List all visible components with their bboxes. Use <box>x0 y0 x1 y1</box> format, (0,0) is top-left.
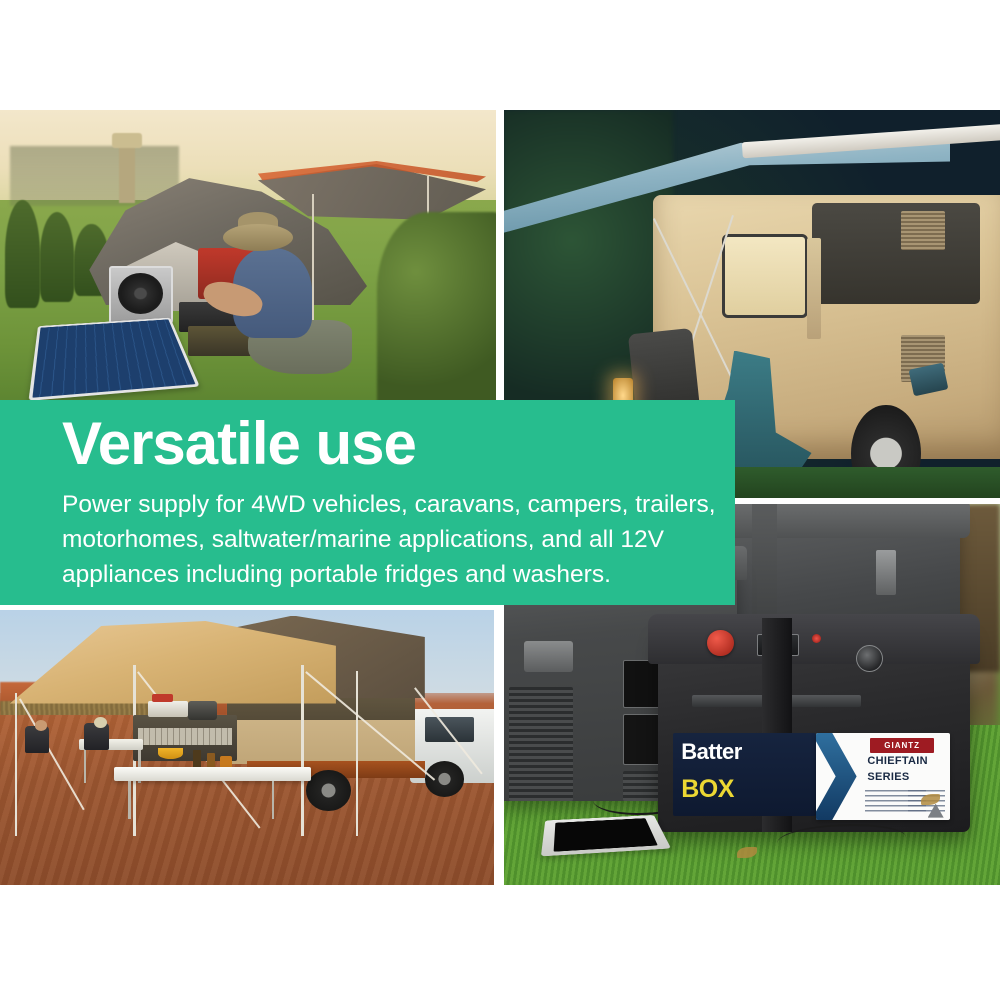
kitchen-storage-boxes <box>138 728 232 745</box>
vehicle-wheel <box>425 761 465 797</box>
portable-fan <box>109 266 173 324</box>
promo-description: Power supply for 4WD vehicles, caravans,… <box>62 487 702 592</box>
caravan-door <box>807 238 822 339</box>
battery-box-socket[interactable] <box>856 645 883 672</box>
photo-outback-camper-trailer-scene <box>0 610 494 885</box>
giantz-brand-badge: GIANTZ <box>870 738 934 753</box>
foreground-bush <box>377 212 496 410</box>
table-leg <box>84 750 87 783</box>
series-line2: SERIES <box>867 771 945 783</box>
promo-description-line-3: appliances including portable fridges an… <box>62 557 702 592</box>
series-line1: CHIEFTAIN <box>867 755 945 767</box>
awning-pole <box>356 671 359 836</box>
chieftain-series-sticker: GIANTZ CHIEFTAIN SERIES <box>816 733 950 821</box>
caravan-window <box>722 234 807 318</box>
battery-box-brand-label: Batter BOX <box>673 733 817 817</box>
fridge-vent-grill <box>509 687 573 801</box>
awning-pole <box>301 665 304 836</box>
vehicle-window <box>425 717 474 742</box>
table-leg <box>128 781 131 820</box>
folding-table <box>114 767 312 781</box>
cooking-pot <box>188 701 218 720</box>
seated-person <box>94 717 107 728</box>
tent-pole <box>312 194 314 320</box>
promo-description-line-2: motorhomes, saltwater/marine application… <box>62 522 702 557</box>
fridge-handle <box>524 641 574 671</box>
promo-image-canvas: Batter BOX GIANTZ CHIEFTAIN SERIES <box>0 0 1000 1000</box>
table-leg <box>272 781 275 820</box>
yellow-bowl <box>158 748 183 759</box>
caravan-vent <box>901 211 946 250</box>
cypress-tree <box>5 200 40 308</box>
fridge-latch <box>876 550 896 596</box>
photo-camping-solar-scene <box>0 110 496 410</box>
battery-box-label-line1: Batter <box>681 739 742 765</box>
caravan-side-panel <box>812 203 981 304</box>
awning-pole <box>15 693 18 836</box>
camp-stove <box>148 701 188 718</box>
cypress-tree <box>40 212 75 302</box>
battery-box-label-line2: BOX <box>681 775 734 804</box>
trailer-wheel <box>306 770 350 811</box>
giantz-brand-text: GIANTZ <box>870 738 934 753</box>
sun-hat <box>223 224 292 251</box>
water-tower <box>119 137 135 203</box>
flexible-solar-panel <box>28 318 199 401</box>
chevron-graphic <box>816 733 856 821</box>
page-title: Versatile use <box>62 412 416 476</box>
promo-description-line-1: Power supply for 4WD vehicles, caravans,… <box>62 487 702 522</box>
